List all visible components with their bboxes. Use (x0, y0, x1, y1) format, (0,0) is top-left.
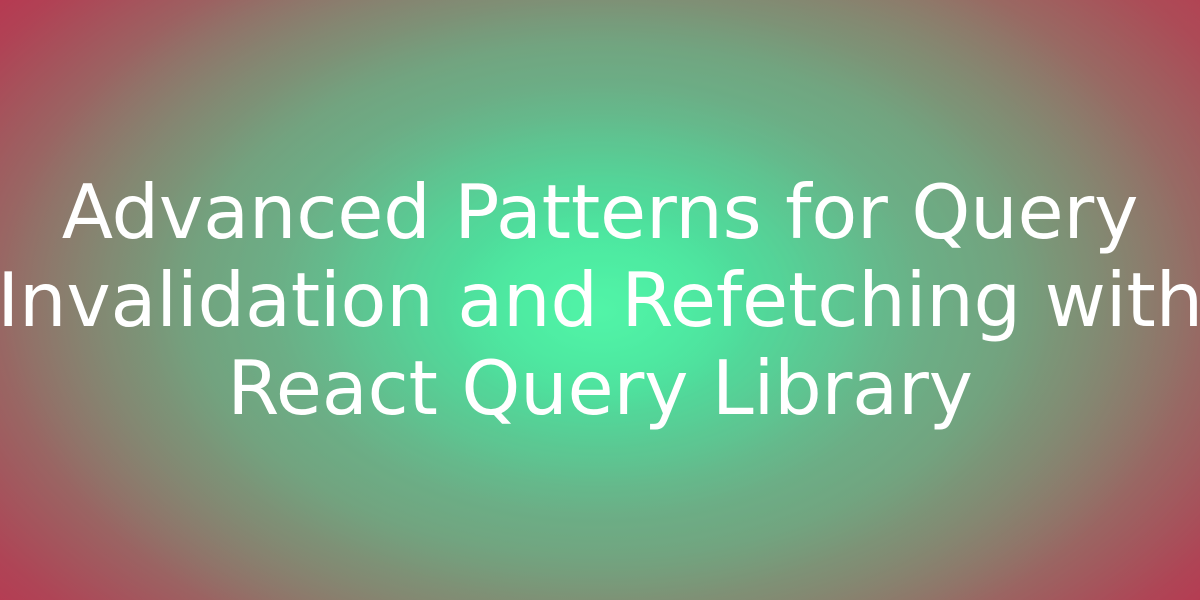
title-line-3: React Query Library (227, 344, 973, 432)
page-title: Advanced Patterns for Query Invalidation… (0, 0, 1200, 600)
title-line-2: Invalidation and Refetching with (0, 256, 1200, 344)
title-line-1: Advanced Patterns for Query (62, 168, 1139, 256)
social-banner: Advanced Patterns for Query Invalidation… (0, 0, 1200, 600)
